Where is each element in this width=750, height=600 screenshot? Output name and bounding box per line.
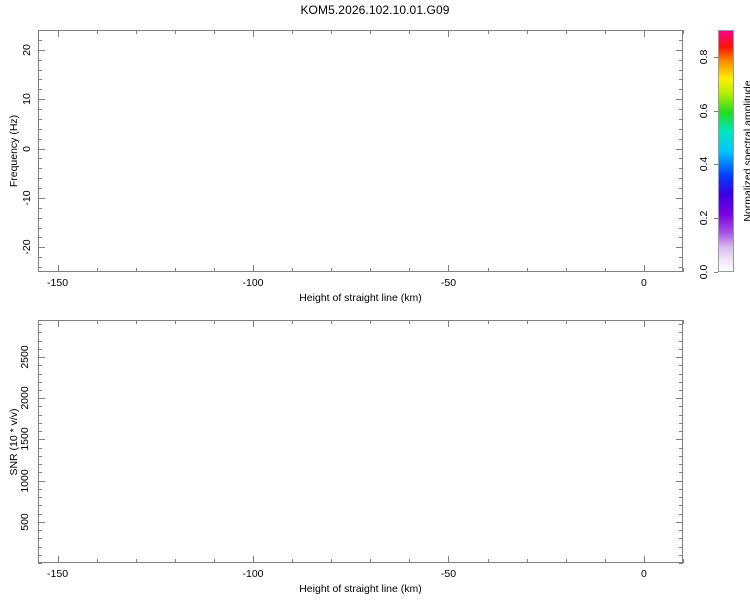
tick-mark	[38, 415, 42, 416]
colorbar-tick-label: 0.4	[698, 157, 710, 172]
tick-mark	[38, 237, 42, 238]
x-tick-label: -150	[47, 277, 68, 289]
tick-mark	[38, 324, 42, 325]
tick-mark	[714, 111, 718, 112]
tick-mark	[679, 341, 683, 342]
tick-mark	[253, 320, 254, 327]
tick-mark	[679, 415, 683, 416]
snr-panel	[38, 320, 683, 563]
x-tick-label: 0	[641, 568, 647, 580]
tick-mark	[38, 89, 42, 90]
tick-mark	[38, 178, 42, 179]
tick-mark	[679, 555, 683, 556]
tick-mark	[214, 268, 215, 272]
tick-mark	[38, 398, 45, 399]
tick-mark	[38, 522, 45, 523]
y-tick-label: 500	[19, 513, 31, 531]
tick-mark	[679, 60, 683, 61]
tick-mark	[38, 267, 42, 268]
tick-mark	[136, 268, 137, 272]
tick-mark	[679, 423, 683, 424]
tick-mark	[38, 257, 42, 258]
colorbar	[718, 30, 734, 272]
tick-mark	[676, 439, 683, 440]
tick-mark	[136, 30, 137, 34]
tick-mark	[38, 547, 42, 548]
tick-mark	[58, 265, 59, 272]
tick-mark	[38, 129, 42, 130]
tick-mark	[175, 559, 176, 563]
snr-frame	[38, 320, 683, 563]
x-tick-label: -50	[441, 277, 456, 289]
y-tick-label: 1000	[19, 469, 31, 492]
tick-mark	[679, 514, 683, 515]
tick-mark	[97, 320, 98, 324]
figure-root: KOM5.2026.102.10.01.G09 -150-100-500 -20…	[0, 0, 750, 600]
spectrogram-panel	[38, 30, 683, 272]
tick-mark	[644, 320, 645, 327]
tick-mark	[679, 497, 683, 498]
colorbar-tick-label: 0.6	[698, 103, 710, 118]
tick-mark	[679, 563, 683, 564]
tick-mark	[292, 320, 293, 324]
figure-title: KOM5.2026.102.10.01.G09	[0, 3, 750, 17]
tick-mark	[679, 40, 683, 41]
tick-mark	[136, 320, 137, 324]
tick-mark	[683, 268, 684, 272]
tick-mark	[605, 320, 606, 324]
tick-mark	[714, 272, 718, 273]
tick-mark	[527, 30, 528, 34]
tick-mark	[97, 559, 98, 563]
tick-mark	[679, 237, 683, 238]
tick-mark	[370, 268, 371, 272]
tick-mark	[38, 218, 42, 219]
colorbar-tick-label: 0.0	[698, 265, 710, 280]
x-tick-label: -100	[242, 277, 263, 289]
tick-mark	[679, 365, 683, 366]
tick-mark	[676, 247, 683, 248]
tick-mark	[38, 431, 42, 432]
tick-mark	[38, 228, 42, 229]
tick-mark	[679, 472, 683, 473]
tick-mark	[448, 30, 449, 37]
tick-mark	[292, 268, 293, 272]
snr-x-axis-label: Height of straight line (km)	[299, 583, 422, 595]
x-tick-label: -50	[441, 568, 456, 580]
tick-mark	[644, 556, 645, 563]
tick-mark	[448, 556, 449, 563]
tick-mark	[679, 228, 683, 229]
tick-mark	[253, 556, 254, 563]
y-tick-label: 0	[21, 146, 33, 152]
tick-mark	[38, 198, 45, 199]
tick-mark	[38, 423, 42, 424]
tick-mark	[38, 365, 42, 366]
spectrogram-x-axis-label: Height of straight line (km)	[299, 292, 422, 304]
tick-mark	[527, 559, 528, 563]
tick-mark	[214, 320, 215, 324]
y-tick-label: -10	[21, 190, 33, 205]
tick-mark	[38, 538, 42, 539]
tick-mark	[38, 188, 42, 189]
tick-mark	[527, 268, 528, 272]
tick-mark	[679, 406, 683, 407]
tick-mark	[38, 50, 45, 51]
y-tick-label: -20	[21, 240, 33, 255]
tick-mark	[38, 472, 42, 473]
tick-mark	[679, 208, 683, 209]
tick-mark	[683, 559, 684, 563]
tick-mark	[370, 30, 371, 34]
tick-mark	[605, 559, 606, 563]
tick-mark	[714, 57, 718, 58]
tick-mark	[38, 149, 45, 150]
tick-mark	[175, 320, 176, 324]
tick-mark	[566, 268, 567, 272]
tick-mark	[38, 489, 42, 490]
tick-mark	[679, 218, 683, 219]
y-tick-label: 2000	[19, 387, 31, 410]
tick-mark	[448, 265, 449, 272]
tick-mark	[331, 268, 332, 272]
snr-y-axis-label: SNR (10 * v/v)	[8, 408, 20, 475]
tick-mark	[38, 481, 45, 482]
tick-mark	[679, 374, 683, 375]
tick-mark	[253, 30, 254, 37]
tick-mark	[409, 268, 410, 272]
tick-mark	[214, 30, 215, 34]
tick-mark	[679, 530, 683, 531]
tick-mark	[38, 139, 42, 140]
tick-mark	[448, 320, 449, 327]
tick-mark	[38, 332, 42, 333]
tick-mark	[488, 559, 489, 563]
tick-mark	[679, 464, 683, 465]
tick-mark	[679, 505, 683, 506]
tick-mark	[679, 349, 683, 350]
tick-mark	[679, 129, 683, 130]
tick-mark	[679, 79, 683, 80]
tick-mark	[679, 267, 683, 268]
tick-mark	[97, 30, 98, 34]
tick-mark	[214, 559, 215, 563]
tick-mark	[38, 497, 42, 498]
tick-mark	[409, 320, 410, 324]
tick-mark	[644, 30, 645, 37]
tick-mark	[566, 320, 567, 324]
tick-mark	[38, 247, 45, 248]
tick-mark	[679, 332, 683, 333]
tick-mark	[679, 324, 683, 325]
tick-mark	[676, 50, 683, 51]
tick-mark	[136, 559, 137, 563]
tick-mark	[676, 481, 683, 482]
tick-mark	[38, 40, 42, 41]
tick-mark	[38, 357, 45, 358]
tick-mark	[38, 464, 42, 465]
tick-mark	[679, 431, 683, 432]
tick-mark	[38, 505, 42, 506]
tick-mark	[679, 89, 683, 90]
tick-mark	[679, 139, 683, 140]
y-tick-label: 10	[21, 93, 33, 105]
tick-mark	[683, 320, 684, 324]
tick-mark	[38, 390, 42, 391]
tick-mark	[292, 559, 293, 563]
tick-mark	[97, 268, 98, 272]
tick-mark	[38, 514, 42, 515]
y-tick-label: 2500	[19, 345, 31, 368]
tick-mark	[38, 382, 42, 383]
tick-mark	[38, 99, 45, 100]
tick-mark	[676, 198, 683, 199]
tick-mark	[679, 547, 683, 548]
tick-mark	[409, 559, 410, 563]
tick-mark	[679, 390, 683, 391]
tick-mark	[38, 60, 42, 61]
tick-mark	[370, 559, 371, 563]
tick-mark	[38, 456, 42, 457]
tick-mark	[58, 320, 59, 327]
tick-mark	[714, 218, 718, 219]
x-tick-label: -100	[242, 568, 263, 580]
tick-mark	[488, 30, 489, 34]
tick-mark	[488, 268, 489, 272]
tick-mark	[679, 382, 683, 383]
tick-mark	[38, 30, 42, 31]
tick-mark	[676, 99, 683, 100]
tick-mark	[331, 320, 332, 324]
spectrogram-y-axis-label: Frequency (Hz)	[8, 115, 20, 187]
tick-mark	[488, 320, 489, 324]
tick-mark	[676, 398, 683, 399]
tick-mark	[527, 320, 528, 324]
tick-mark	[566, 30, 567, 34]
tick-mark	[38, 119, 42, 120]
tick-mark	[38, 349, 42, 350]
tick-mark	[605, 268, 606, 272]
tick-mark	[38, 158, 42, 159]
x-tick-label: 0	[641, 277, 647, 289]
colorbar-tick-label: 0.8	[698, 50, 710, 65]
tick-mark	[679, 178, 683, 179]
tick-mark	[679, 257, 683, 258]
tick-mark	[679, 538, 683, 539]
tick-mark	[38, 168, 42, 169]
tick-mark	[679, 119, 683, 120]
tick-mark	[679, 489, 683, 490]
tick-mark	[370, 320, 371, 324]
tick-mark	[679, 168, 683, 169]
colorbar-frame	[718, 30, 734, 272]
tick-mark	[331, 30, 332, 34]
tick-mark	[253, 265, 254, 272]
tick-mark	[714, 164, 718, 165]
spectrogram-frame	[38, 30, 683, 272]
tick-mark	[38, 79, 42, 80]
colorbar-tick-label: 0.2	[698, 211, 710, 226]
tick-mark	[175, 30, 176, 34]
tick-mark	[38, 406, 42, 407]
tick-mark	[644, 265, 645, 272]
tick-mark	[38, 70, 42, 71]
tick-mark	[38, 374, 42, 375]
tick-mark	[38, 448, 42, 449]
tick-mark	[58, 556, 59, 563]
tick-mark	[679, 30, 683, 31]
tick-mark	[38, 208, 42, 209]
tick-mark	[679, 158, 683, 159]
tick-mark	[38, 530, 42, 531]
tick-mark	[676, 522, 683, 523]
tick-mark	[175, 268, 176, 272]
tick-mark	[679, 188, 683, 189]
tick-mark	[676, 149, 683, 150]
tick-mark	[566, 559, 567, 563]
y-tick-label: 1500	[19, 428, 31, 451]
tick-mark	[38, 341, 42, 342]
colorbar-label: Normalized spectral amplitude	[742, 80, 750, 221]
tick-mark	[38, 439, 45, 440]
tick-mark	[679, 448, 683, 449]
tick-mark	[292, 30, 293, 34]
x-tick-label: -150	[47, 568, 68, 580]
tick-mark	[38, 563, 42, 564]
tick-mark	[58, 30, 59, 37]
tick-mark	[331, 559, 332, 563]
tick-mark	[679, 109, 683, 110]
y-tick-label: 20	[21, 44, 33, 56]
tick-mark	[679, 456, 683, 457]
tick-mark	[676, 357, 683, 358]
tick-mark	[605, 30, 606, 34]
tick-mark	[683, 30, 684, 34]
tick-mark	[679, 70, 683, 71]
tick-mark	[38, 109, 42, 110]
tick-mark	[409, 30, 410, 34]
tick-mark	[38, 555, 42, 556]
